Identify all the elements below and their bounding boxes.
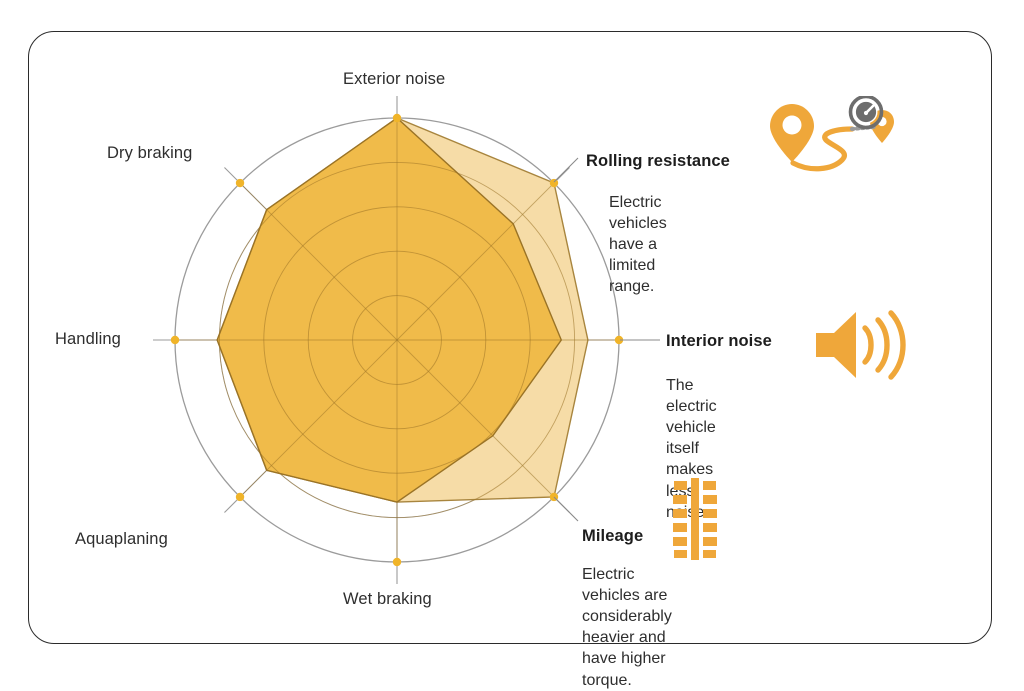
axis-label-dry-braking: Dry braking (107, 144, 192, 163)
tire-tread-icon (672, 478, 718, 560)
annotation-title-interior-noise: Interior noise (666, 332, 772, 351)
annotation-title-mileage: Mileage (582, 527, 643, 546)
speaker-icon (812, 309, 912, 381)
annotation-body-mileage: Electric vehicles are considerably heavi… (582, 564, 672, 691)
annotation-title-rolling-resistance: Rolling resistance (586, 152, 730, 171)
axis-label-handling: Handling (55, 330, 121, 349)
axis-label-wet-braking: Wet braking (343, 590, 432, 609)
route-map-pin-icon (770, 96, 915, 181)
axis-label-aquaplaning: Aquaplaning (75, 530, 168, 549)
annotation-body-rolling-resistance: Electric vehicles have a limited range. (609, 192, 667, 298)
axis-label-exterior-noise: Exterior noise (343, 70, 445, 89)
